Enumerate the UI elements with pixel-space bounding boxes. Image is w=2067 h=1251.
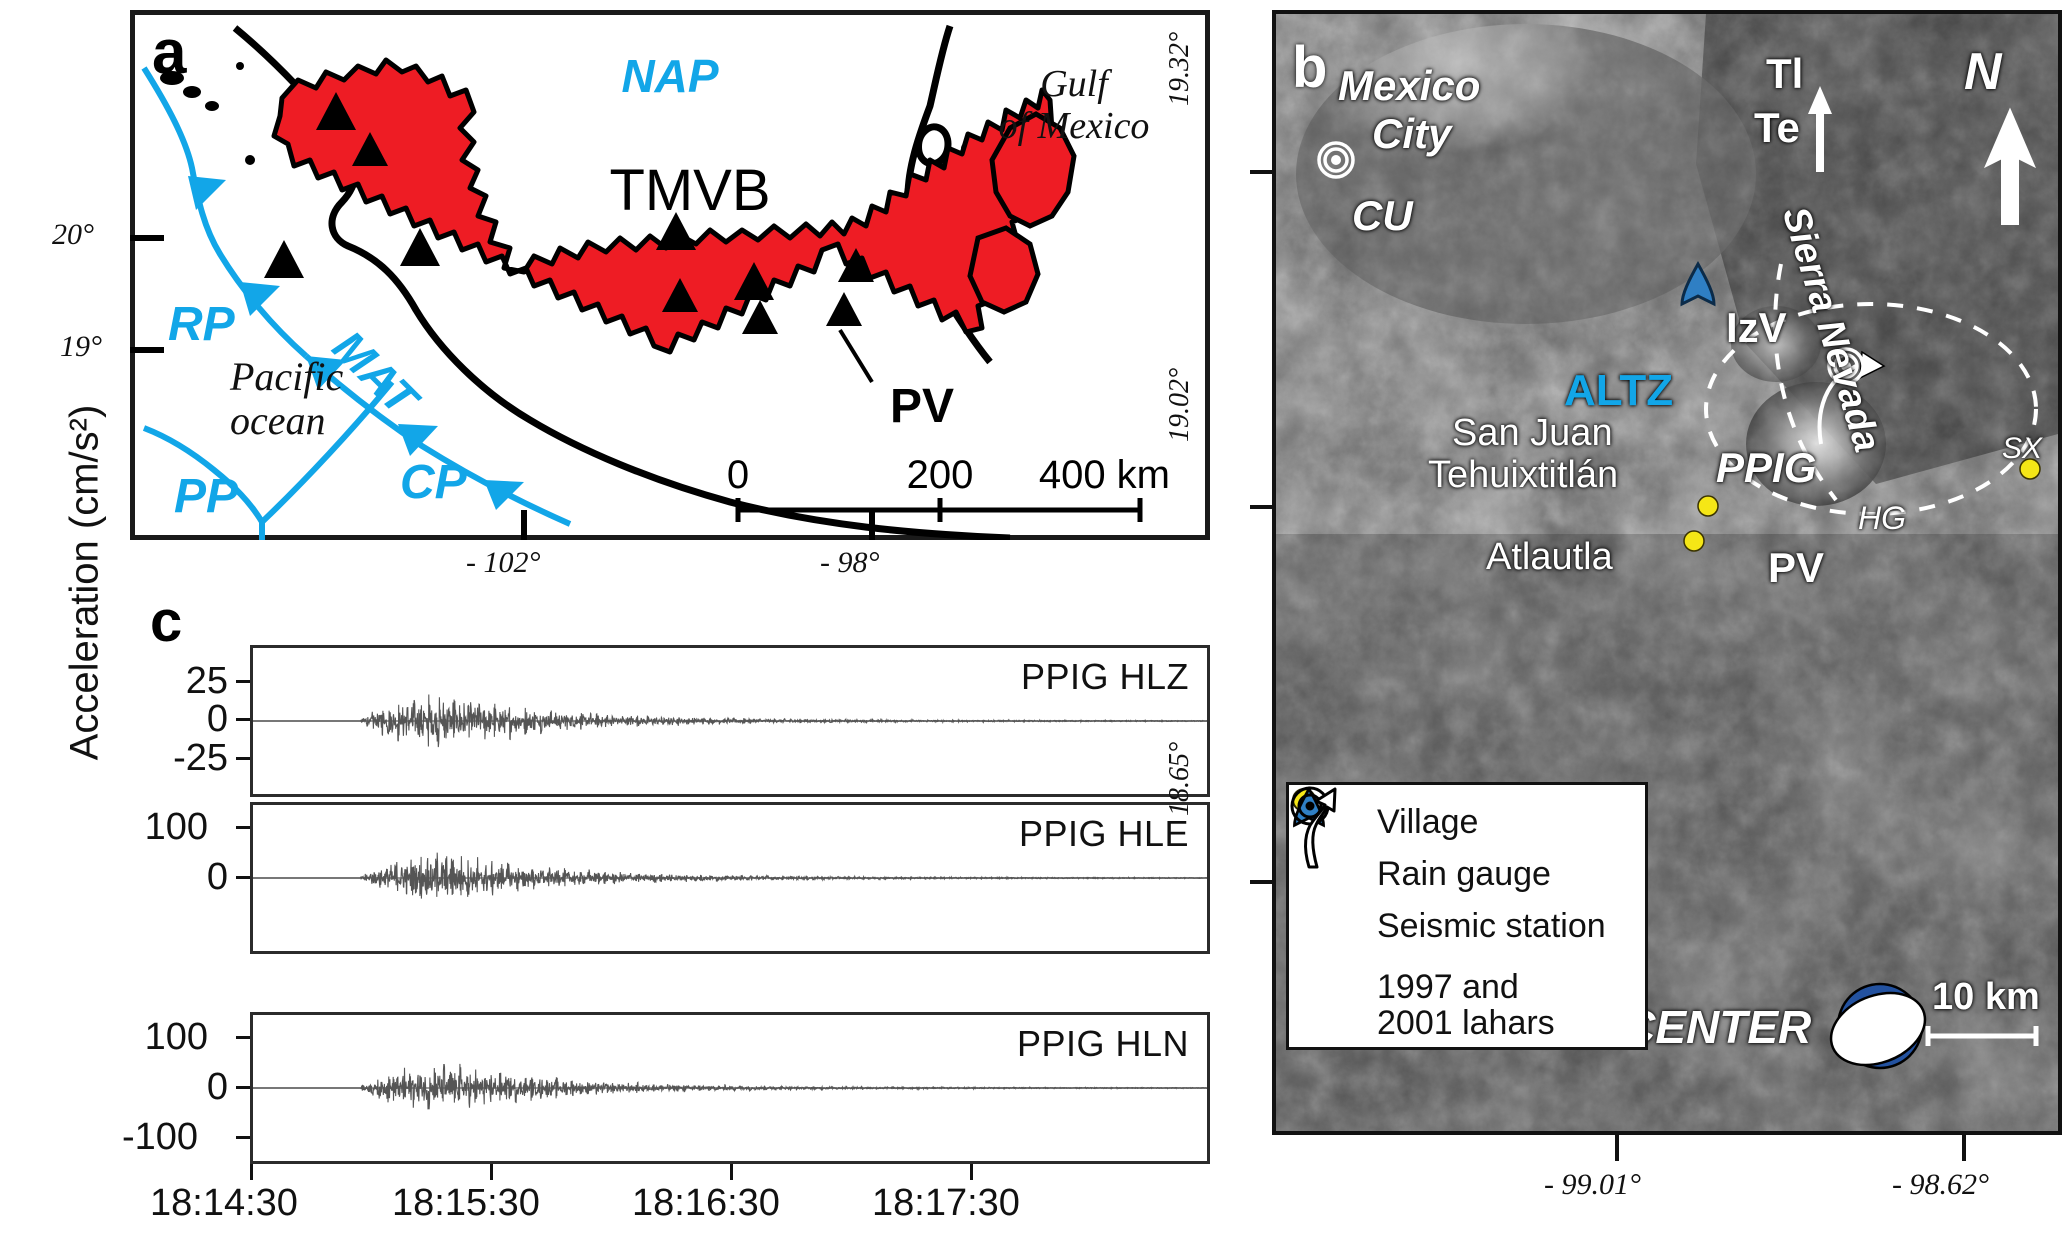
panel-b-lat-tick-2 <box>1250 880 1274 884</box>
label-san-juan-line1: San Juan <box>1452 412 1613 455</box>
satellite-image: b Mexico City CU Tl Te IzV ALTZ Sierra N… <box>1272 10 2062 1135</box>
ytick-hle-100: 100 <box>58 806 208 849</box>
panel-b-legend: Village Rain gauge Seism <box>1286 782 1648 1050</box>
panel-b-lat-label-2: 18.65° <box>1164 742 1196 816</box>
tmvb-east-lobe-2 <box>970 228 1038 312</box>
label-sx: SX <box>2002 432 2042 466</box>
panel-b-satellite-map: b Mexico City CU Tl Te IzV ALTZ Sierra N… <box>1272 10 2062 1135</box>
legend-row-seismic-station: Seismic station <box>1289 901 1645 953</box>
xtickmark-0 <box>250 1164 253 1180</box>
scalebar-label-0: 0 <box>727 453 749 497</box>
panel-b-lon-tick-0 <box>1615 1135 1619 1161</box>
panel-b-lon-label-1: - 98.62° <box>1892 1168 1989 1202</box>
xtickmark-2 <box>730 1164 733 1180</box>
ytick-hln-neg100: -100 <box>48 1116 198 1159</box>
panel-b-lon-tick-1 <box>1962 1135 1966 1161</box>
label-gulf-line2: of Mexico <box>999 105 1150 147</box>
ytickmark-hlz-25 <box>236 680 250 683</box>
label-pv: PV <box>1768 544 1824 592</box>
legend-label-seismic-station: Seismic station <box>1377 909 1606 945</box>
label-cp: CP <box>400 456 468 509</box>
legend-row-village: Village <box>1289 797 1645 849</box>
ytick-hln-0: 0 <box>78 1066 228 1109</box>
panel-a-lat-20: 20° <box>52 218 94 252</box>
ytickmark-hle-100 <box>236 826 250 829</box>
label-tl: Tl <box>1766 50 1803 98</box>
panel-a-lat-ticks <box>130 238 164 350</box>
ytickmark-hln-100 <box>236 1036 250 1039</box>
trace-label-hlz: PPIG HLZ <box>1021 656 1189 698</box>
xtickmark-1 <box>490 1164 493 1180</box>
panel-b-lat-label-1: 19.02° <box>1164 368 1196 442</box>
label-mexico-city-line1: Mexico <box>1338 62 1480 110</box>
panel-a-lon-ticks <box>524 510 872 540</box>
panel-a-letter: a <box>152 22 186 84</box>
village-dot-san-juan <box>1698 496 1718 516</box>
label-north: N <box>1964 42 2002 102</box>
panel-c-letter: c <box>150 588 182 655</box>
xtickmark-3 <box>970 1164 973 1180</box>
label-cu: CU <box>1352 192 1413 240</box>
label-mexico-city-line2: City <box>1372 110 1451 158</box>
xtick-label-3: 18:17:30 <box>872 1182 1020 1225</box>
label-atlautla: Atlautla <box>1486 536 1613 579</box>
ytick-hle-0: 0 <box>78 856 228 899</box>
legend-label-lahars: 1997 and 2001 lahars <box>1377 970 1555 1041</box>
label-ppig: PPIG <box>1716 444 1816 492</box>
label-rp: RP <box>168 298 236 351</box>
panel-a-regional-map: NAP TMVB Gulf of Mexico RP PP CP MAT Pac… <box>130 10 1210 540</box>
legend-row-rain-gauge: Rain gauge <box>1289 849 1645 901</box>
panel-b-lat-label-0: 19.32° <box>1164 32 1196 106</box>
panel-a-svg: NAP TMVB Gulf of Mexico RP PP CP MAT Pac… <box>130 10 1210 540</box>
seismic-station-cu-icon <box>1319 143 1353 177</box>
trace-label-hln: PPIG HLN <box>1017 1023 1189 1065</box>
ytickmark-hln-neg100 <box>236 1136 250 1139</box>
trace-box-hle: PPIG HLE <box>250 802 1210 954</box>
legend-label-village: Village <box>1377 805 1478 841</box>
scalebar-label-400km: 400 km <box>1039 453 1170 497</box>
ytick-hln-100: 100 <box>58 1016 208 1059</box>
legend-row-lahars: 1997 and 2001 lahars <box>1289 953 1645 1059</box>
legend-label-rain-gauge: Rain gauge <box>1377 857 1551 893</box>
label-tmvb: TMVB <box>609 158 770 223</box>
ytickmark-hlz-neg25 <box>236 757 250 760</box>
pv-leader-line <box>840 330 872 382</box>
label-altz: ALTZ <box>1564 366 1673 416</box>
ytick-hlz-neg25: -25 <box>78 737 228 780</box>
label-gulf-line1: Gulf <box>1040 63 1112 105</box>
ytickmark-hle-0 <box>236 876 250 879</box>
scalebar-label-200: 200 <box>907 453 974 497</box>
panel-b-lat-tick-0 <box>1250 170 1274 174</box>
label-nap: NAP <box>621 50 718 102</box>
label-pp: PP <box>174 470 239 523</box>
label-izv: IzV <box>1726 304 1787 352</box>
panel-b-lat-tick-1 <box>1250 505 1274 509</box>
trace-box-hln: PPIG HLN <box>250 1012 1210 1164</box>
label-san-juan-line2: Tehuixtitlán <box>1428 454 1618 497</box>
xtick-label-0: 18:14:30 <box>150 1182 298 1225</box>
xtick-label-1: 18:15:30 <box>392 1182 540 1225</box>
village-dot-atlautla <box>1684 531 1704 551</box>
panel-b-letter: b <box>1292 34 1327 101</box>
label-hg: HG <box>1858 500 1906 537</box>
xtick-label-2: 18:16:30 <box>632 1182 780 1225</box>
ytick-hlz-25: 25 <box>78 660 228 703</box>
label-pacific-line2: ocean <box>230 398 326 443</box>
ytickmark-hln-0 <box>236 1086 250 1089</box>
label-te: Te <box>1754 104 1800 152</box>
label-panel-b-scalebar: 10 km <box>1932 976 2040 1019</box>
panel-b-lon-label-0: - 99.01° <box>1544 1168 1641 1202</box>
label-pacific-line1: Pacific <box>229 354 344 399</box>
ytick-hlz-0: 0 <box>78 698 228 741</box>
ytickmark-hlz-0 <box>236 718 250 721</box>
label-pv: PV <box>890 380 954 433</box>
trace-box-hlz: PPIG HLZ <box>250 645 1210 797</box>
trace-label-hle: PPIG HLE <box>1019 813 1189 855</box>
